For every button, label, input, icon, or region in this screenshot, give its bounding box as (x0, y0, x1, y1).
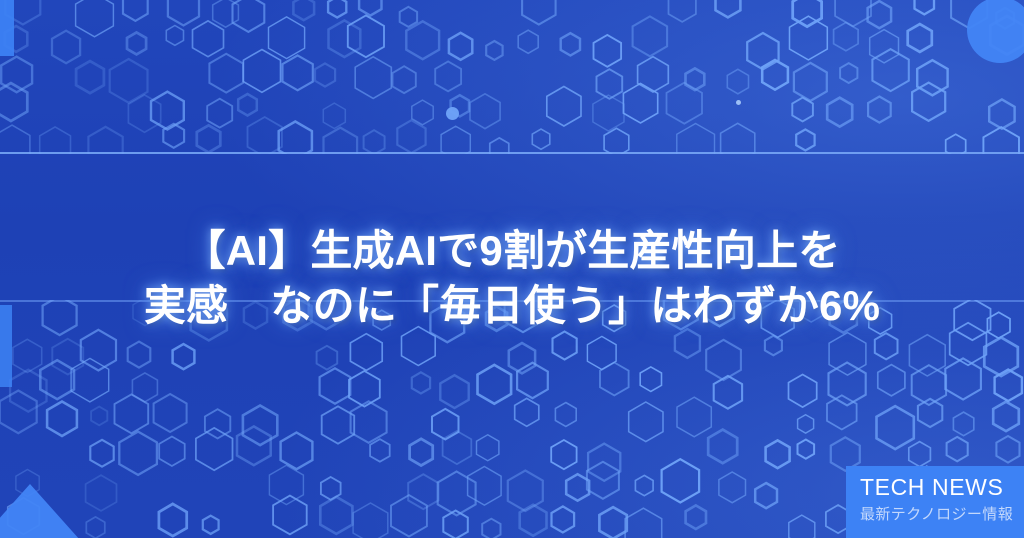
hexagon-pattern-top (0, 0, 1024, 154)
badge-subtitle: 最新テクノロジー情報 (860, 503, 1024, 524)
badge-title: TECH NEWS (860, 475, 1024, 499)
accent-dot-upper-center (446, 107, 459, 120)
divider-rule-top (0, 152, 1024, 154)
accent-dot-upper-right (736, 100, 741, 105)
page-title: 【AI】生成AIで9割が生産性向上を 実感 なのに「毎日使う」はわずか6% (0, 223, 1024, 334)
accent-triangle-bottom-left (0, 484, 80, 538)
status-badge: TECH NEWS 最新テクノロジー情報 (846, 466, 1024, 538)
accent-bar-top-left (0, 0, 14, 56)
news-thumbnail-card: 【AI】生成AIで9割が生産性向上を 実感 なのに「毎日使う」はわずか6% TE… (0, 0, 1024, 538)
